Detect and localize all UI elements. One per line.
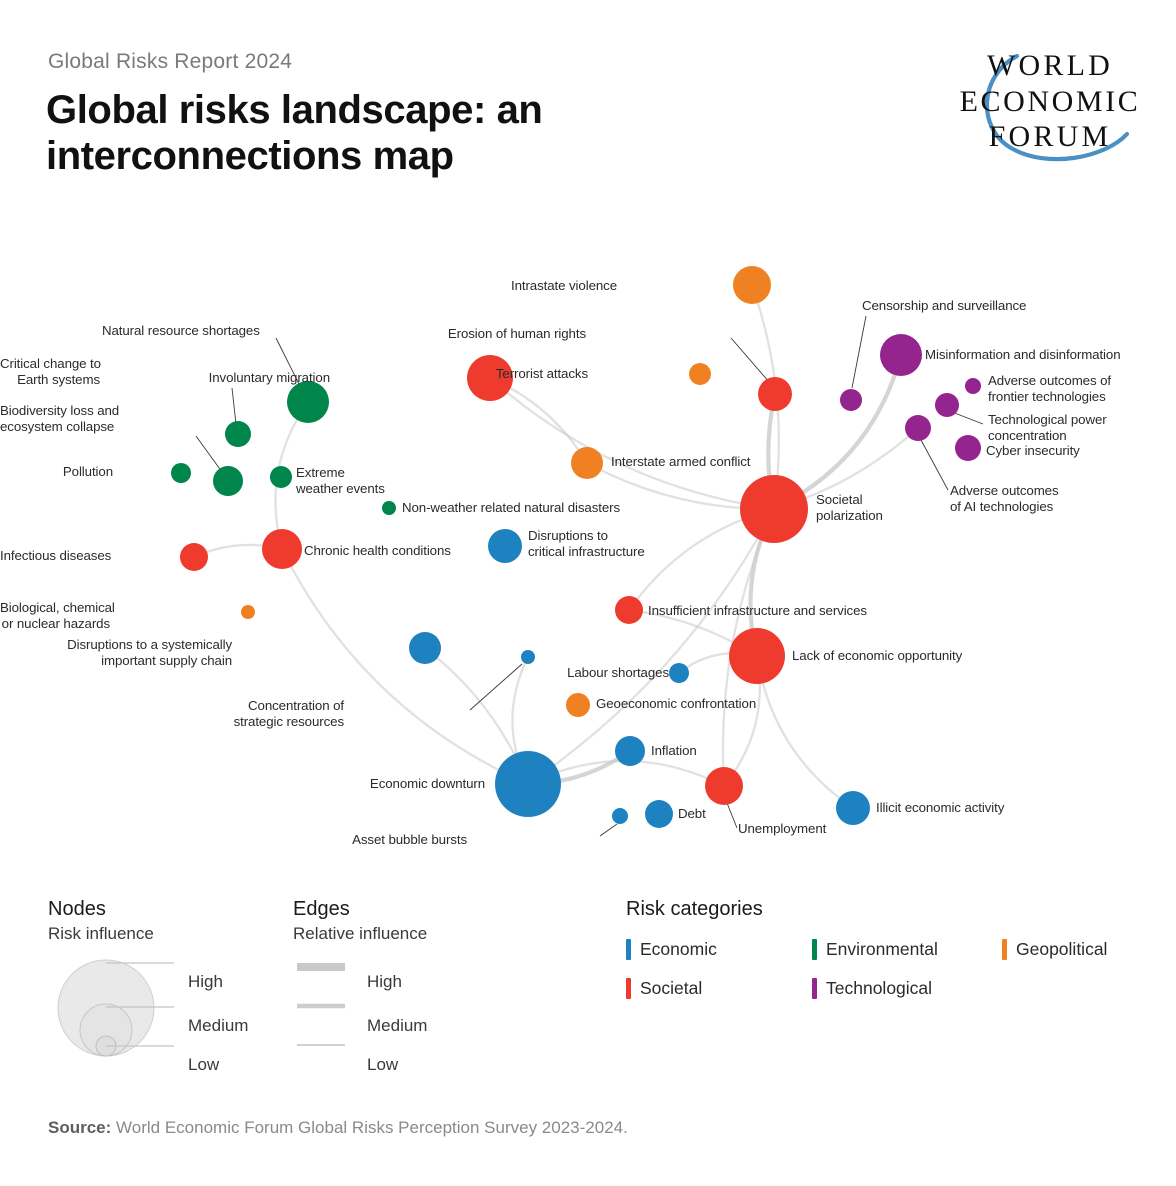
label-leader-line <box>196 436 222 472</box>
network-node[interactable] <box>965 378 981 394</box>
node-label: Adverse outcomes of AI technologies <box>950 483 1059 515</box>
node-label: Illicit economic activity <box>876 800 1004 816</box>
network-node[interactable] <box>733 266 771 304</box>
legend-category-economic: Economic <box>626 939 812 960</box>
category-color-swatch <box>812 978 817 999</box>
category-label: Economic <box>640 939 717 960</box>
label-leader-line <box>600 824 617 836</box>
network-node[interactable] <box>521 650 535 664</box>
label-leader-line <box>232 388 236 424</box>
node-label: Interstate armed conflict <box>611 454 750 470</box>
node-label: Intrastate violence <box>0 278 617 294</box>
node-label: Unemployment <box>738 821 826 837</box>
network-node[interactable] <box>955 435 981 461</box>
node-label: Technological power concentration <box>988 412 1107 444</box>
network-edge <box>490 378 774 509</box>
node-label: Insufficient infrastructure and services <box>648 603 867 619</box>
legend-node-high: High <box>188 972 223 992</box>
network-node[interactable] <box>612 808 628 824</box>
node-label: Non-weather related natural disasters <box>402 500 620 516</box>
node-label: Terrorist attacks <box>0 366 588 382</box>
network-node[interactable] <box>669 663 689 683</box>
category-label: Geopolitical <box>1016 939 1107 960</box>
network-node[interactable] <box>840 389 862 411</box>
network-node[interactable] <box>225 421 251 447</box>
source-prefix: Source: <box>48 1118 111 1137</box>
network-node[interactable] <box>382 501 396 515</box>
wef-logo: WORLD ECONOMIC FORUM <box>955 42 1145 162</box>
legend-edge-medium-label: Medium <box>367 1016 427 1036</box>
legend-category-geopolitical: Geopolitical <box>1002 939 1107 960</box>
node-label: Geoeconomic confrontation <box>596 696 756 712</box>
network-node[interactable] <box>241 605 255 619</box>
node-label: Labour shortages <box>0 665 669 681</box>
legend-nodes: Nodes Risk influence High Medium Low <box>48 898 278 1066</box>
legend-categories-heading: Risk categories <box>626 898 1107 921</box>
legend-node-sizes <box>48 956 278 1061</box>
node-label: Disruptions to critical infrastructure <box>528 528 645 560</box>
network-node[interactable] <box>836 791 870 825</box>
network-node[interactable] <box>213 466 243 496</box>
network-node[interactable] <box>758 377 792 411</box>
network-node[interactable] <box>262 529 302 569</box>
network-node[interactable] <box>905 415 931 441</box>
label-leader-line <box>852 316 866 388</box>
header: Global Risks Report 2024 Global risks la… <box>0 0 1176 230</box>
network-node[interactable] <box>180 543 208 571</box>
network-node[interactable] <box>740 475 808 543</box>
category-color-swatch <box>626 978 631 999</box>
node-label: Inflation <box>651 743 697 759</box>
node-label: Censorship and surveillance <box>862 298 1026 314</box>
page-title: Global risks landscape: an interconnecti… <box>46 88 746 179</box>
legend-edges-heading: Edges <box>293 898 523 921</box>
network-node[interactable] <box>880 334 922 376</box>
legend-nodes-heading: Nodes <box>48 898 278 921</box>
node-label: Biological, chemical or nuclear hazards <box>0 600 110 632</box>
network-node[interactable] <box>287 381 329 423</box>
source-text: World Economic Forum Global Risks Percep… <box>116 1118 628 1137</box>
node-label: Extreme weather events <box>296 465 385 497</box>
node-label: Erosion of human rights <box>0 326 586 342</box>
node-label: Lack of economic opportunity <box>792 648 962 664</box>
logo-line-2: ECONOMIC <box>960 85 1141 118</box>
category-label: Technological <box>826 978 932 999</box>
network-node[interactable] <box>566 693 590 717</box>
node-label: Concentration of strategic resources <box>0 698 344 730</box>
footer-divider <box>48 1085 1128 1086</box>
source-note: Source: World Economic Forum Global Risk… <box>48 1118 628 1138</box>
legend-edges: Edges Relative influence High Medium Low <box>293 898 523 1066</box>
node-label: Asset bubble bursts <box>0 832 467 848</box>
network-node[interactable] <box>409 632 441 664</box>
category-color-swatch <box>1002 939 1007 960</box>
network-node[interactable] <box>729 628 785 684</box>
node-label: Cyber insecurity <box>986 443 1080 459</box>
network-node[interactable] <box>645 800 673 828</box>
legend-category-grid: EconomicEnvironmentalGeopoliticalSocieta… <box>626 939 1107 999</box>
network-node[interactable] <box>495 751 561 817</box>
legend-edge-low-label: Low <box>367 1055 398 1075</box>
network-node[interactable] <box>615 596 643 624</box>
legend-category-technological: Technological <box>812 978 1002 999</box>
logo-line-1: WORLD <box>987 49 1113 82</box>
category-color-swatch <box>812 939 817 960</box>
legend-category-societal: Societal <box>626 978 812 999</box>
legend-category-environmental: Environmental <box>812 939 1002 960</box>
label-leader-line <box>731 338 770 383</box>
node-label: Societal polarization <box>816 492 883 524</box>
legend-risk-categories: Risk categories EconomicEnvironmentalGeo… <box>626 898 1107 999</box>
node-label: Chronic health conditions <box>304 543 451 559</box>
network-node[interactable] <box>488 529 522 563</box>
category-color-swatch <box>626 939 631 960</box>
node-label: Misinformation and disinformation <box>925 347 1121 363</box>
network-node[interactable] <box>935 393 959 417</box>
interconnections-network: Natural resource shortagesCritical chang… <box>0 228 1176 868</box>
legend: Nodes Risk influence High Medium Low Edg… <box>0 880 1176 1070</box>
network-node[interactable] <box>615 736 645 766</box>
legend-node-medium: Medium <box>188 1016 248 1036</box>
legend-node-low: Low <box>188 1055 219 1075</box>
network-node[interactable] <box>705 767 743 805</box>
legend-edge-widths <box>293 956 523 1061</box>
network-node[interactable] <box>171 463 191 483</box>
logo-line-3: FORUM <box>989 120 1112 153</box>
network-node[interactable] <box>270 466 292 488</box>
network-node[interactable] <box>689 363 711 385</box>
node-label: Biodiversity loss and ecosystem collapse <box>0 403 60 435</box>
node-label: Debt <box>678 806 706 822</box>
category-label: Environmental <box>826 939 938 960</box>
node-label: Adverse outcomes of frontier technologie… <box>988 373 1111 405</box>
legend-edges-subheading: Relative influence <box>293 924 523 944</box>
node-label: Infectious diseases <box>0 548 60 564</box>
label-leader-line <box>952 412 983 424</box>
legend-edge-high-label: High <box>367 972 402 992</box>
node-label: Economic downturn <box>0 776 485 792</box>
label-leader-line <box>921 440 948 490</box>
node-label: Pollution <box>0 464 113 480</box>
network-node[interactable] <box>571 447 603 479</box>
report-kicker: Global Risks Report 2024 <box>48 50 292 74</box>
legend-nodes-subheading: Risk influence <box>48 924 278 944</box>
category-label: Societal <box>640 978 702 999</box>
